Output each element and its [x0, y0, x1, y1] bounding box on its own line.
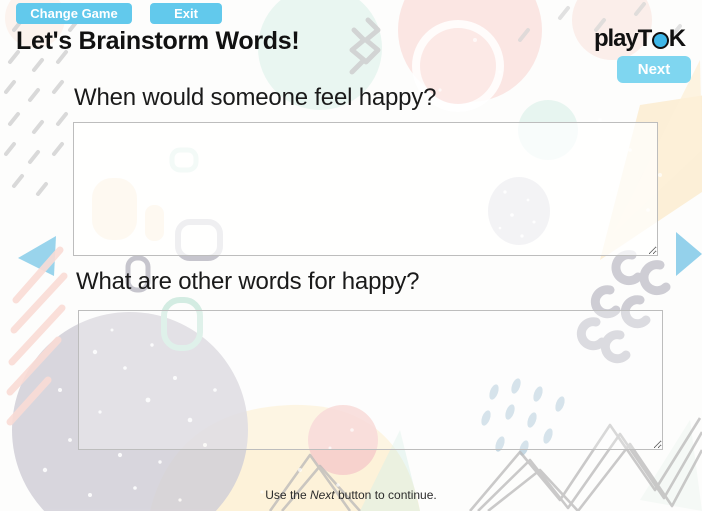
- page-title: Let's Brainstorm Words!: [16, 27, 299, 56]
- logo-text-play: play: [594, 25, 638, 53]
- question-1-label: When would someone feel happy?: [74, 84, 436, 112]
- change-game-button[interactable]: Change Game: [16, 3, 132, 24]
- playtok-logo: playTK: [594, 26, 685, 52]
- exit-button[interactable]: Exit: [150, 3, 222, 24]
- logo-circle-o: [652, 32, 669, 49]
- footer-hint-emphasis: Next: [310, 488, 335, 502]
- footer-hint: Use the Next button to continue.: [0, 488, 702, 502]
- logo-text-t: T: [638, 25, 652, 53]
- next-button[interactable]: Next: [617, 56, 691, 83]
- footer-hint-prefix: Use the: [265, 488, 310, 502]
- question-2-label: What are other words for happy?: [76, 268, 419, 296]
- app-window: Change Game Exit Let's Brainstorm Words!…: [0, 0, 702, 511]
- logo-text-k: K: [669, 25, 686, 53]
- answer-input-2[interactable]: [78, 310, 663, 450]
- answer-input-1[interactable]: [73, 122, 658, 256]
- footer-hint-suffix: button to continue.: [335, 488, 437, 502]
